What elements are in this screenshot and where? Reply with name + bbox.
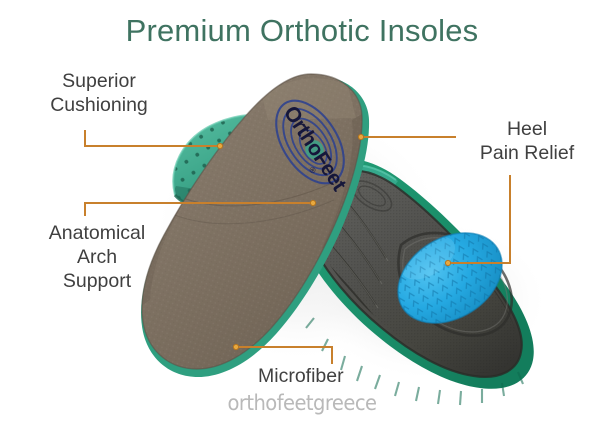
callout-label-heel-pain-relief: Heel Pain Relief — [452, 118, 602, 166]
callout-label-superior-cushioning: Superior Cushioning — [8, 70, 190, 118]
watermark-text: orthofeetgreece — [21, 391, 583, 415]
callout-label-microfiber: Microfiber — [258, 365, 418, 389]
insole-infographic: OrthoFeet ® Premium Orthotic Insoles Sup… — [0, 0, 604, 427]
product-illustration: OrthoFeet ® — [0, 0, 604, 427]
callout-label-anatomical-arch-support: Anatomical Arch Support — [2, 222, 192, 293]
page-title: Premium Orthotic Insoles — [0, 14, 604, 48]
